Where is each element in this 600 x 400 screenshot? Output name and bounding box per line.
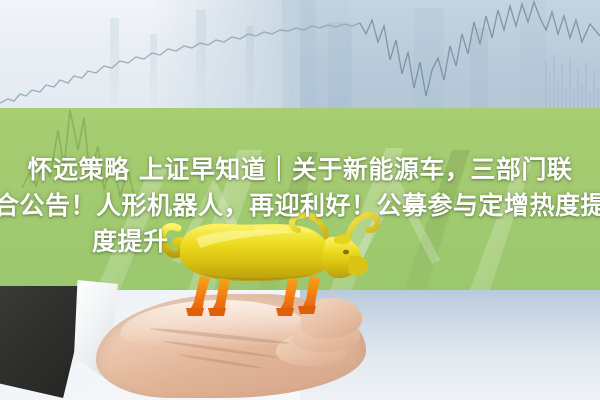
volatile-trendline [360,2,600,96]
rising-trendline [0,23,360,103]
candlestick-columns-left [110,10,254,106]
bull-hooves [186,306,316,316]
headline-overlay: 怀远策略 上证早知道｜关于新能源车，三部门联 合公告！人形机器人，再迎利好！公募… [0,152,600,260]
headline-line-1: 怀远策略 上证早知道｜关于新能源车，三部门联 [0,152,600,188]
background-blocks [282,0,546,108]
volume-ticks [546,54,598,108]
headline-line-2: 合公告！人形机器人，再迎利好！公募参与定增热度提 [0,188,600,224]
news-thumbnail-poster: 怀远策略 上证早知道｜关于新能源车，三部门联 合公告！人形机器人，再迎利好！公募… [0,0,600,400]
headline-line-3: 度提升 [92,224,600,260]
